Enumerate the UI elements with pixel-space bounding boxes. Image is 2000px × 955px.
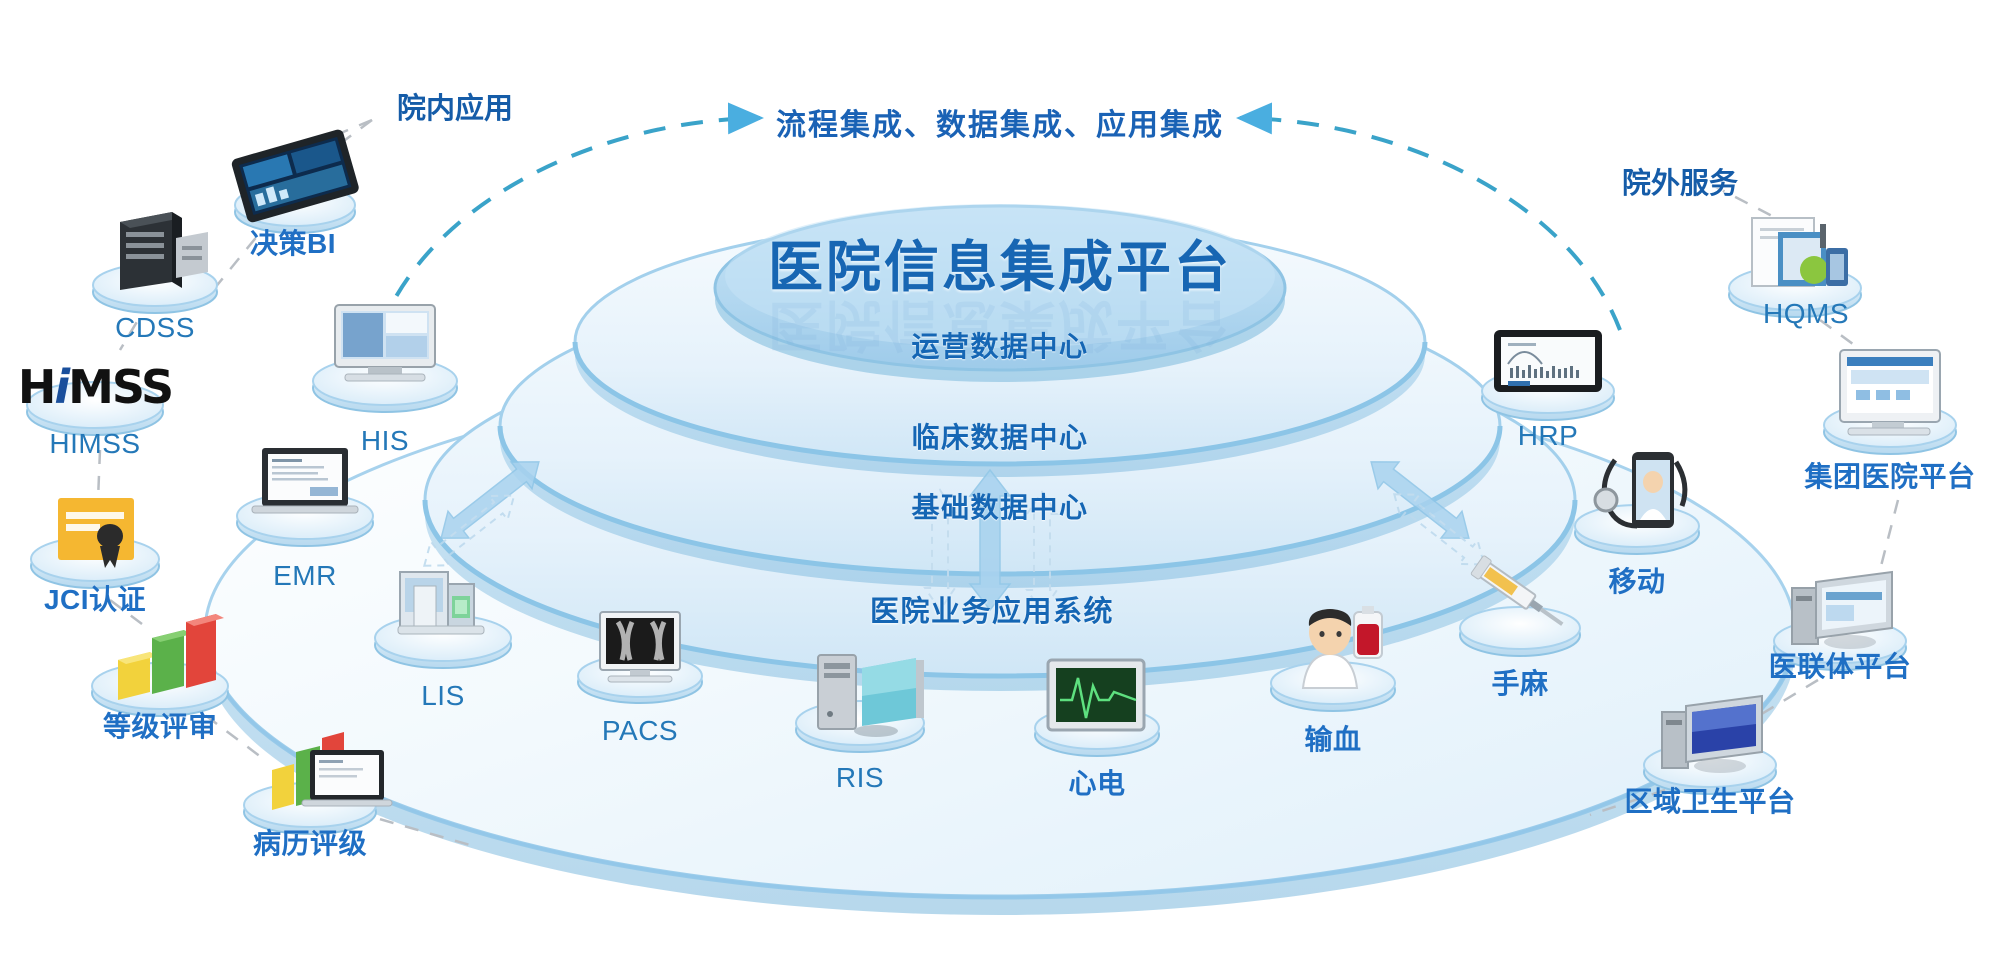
documents-folder-icon (1752, 218, 1848, 286)
himss-logo-icon: HiMSS (18, 360, 172, 414)
node-label-lis[interactable]: LIS (421, 680, 465, 712)
tier-label-foundation: 基础数据中心 (911, 486, 1088, 526)
node-grading-review[interactable] (92, 614, 228, 716)
node-his[interactable] (313, 305, 457, 412)
node-label-regional-health-platform[interactable]: 区域卫生平台 (1624, 780, 1795, 820)
node-label-medical-alliance-platform[interactable]: 医联体平台 (1769, 645, 1912, 685)
node-label-himss[interactable]: HIMSS (49, 428, 140, 460)
node-label-grading-review[interactable]: 等级评审 (103, 705, 217, 745)
node-label-transfusion[interactable]: 输血 (1304, 718, 1361, 758)
crt-monitor-icon (1840, 350, 1940, 435)
node-ecg[interactable] (1035, 660, 1159, 756)
tier-label-operational: 运营数据中心 (911, 325, 1088, 365)
section-label-external-services: 院外服务 (1622, 160, 1738, 202)
node-hrp[interactable] (1482, 330, 1614, 420)
node-label-anesthesia[interactable]: 手麻 (1491, 662, 1548, 702)
ecg-monitor-icon (1048, 660, 1144, 730)
node-cdss[interactable] (93, 212, 217, 313)
business-systems-label: 医院业务应用系统 (870, 588, 1114, 630)
node-label-record-rating[interactable]: 病历评级 (253, 822, 367, 862)
node-group-hospital-platform[interactable] (1824, 350, 1956, 454)
node-label-decision-bi[interactable]: 决策BI (250, 222, 336, 262)
node-label-ris[interactable]: RIS (836, 762, 884, 794)
node-label-pacs[interactable]: PACS (602, 715, 678, 747)
laptop-icon (252, 448, 358, 513)
node-label-group-hospital-platform[interactable]: 集团医院平台 (1804, 455, 1975, 495)
node-label-hqms[interactable]: HQMS (1763, 298, 1849, 330)
node-jci[interactable] (31, 498, 159, 588)
diagram-canvas: 院内应用 院外服务 流程集成、数据集成、应用集成 医院信息集成平台 医院信息集成… (0, 0, 2000, 955)
node-label-jci[interactable]: JCI认证 (44, 578, 146, 618)
node-label-his[interactable]: HIS (361, 425, 409, 457)
node-label-mobile[interactable]: 移动 (1608, 560, 1665, 600)
node-label-hrp[interactable]: HRP (1518, 420, 1579, 452)
tier-label-clinical: 临床数据中心 (911, 416, 1088, 456)
node-label-emr[interactable]: EMR (273, 560, 337, 592)
node-label-ecg[interactable]: 心电 (1068, 762, 1125, 802)
section-label-inner-apps: 院内应用 (397, 85, 513, 127)
node-decision-bi[interactable] (230, 128, 360, 233)
node-label-cdss[interactable]: CDSS (115, 312, 195, 344)
certificate-icon (58, 498, 134, 568)
tablet-chart-icon (1494, 330, 1602, 392)
integration-arrow-label: 流程集成、数据集成、应用集成 (776, 100, 1224, 144)
